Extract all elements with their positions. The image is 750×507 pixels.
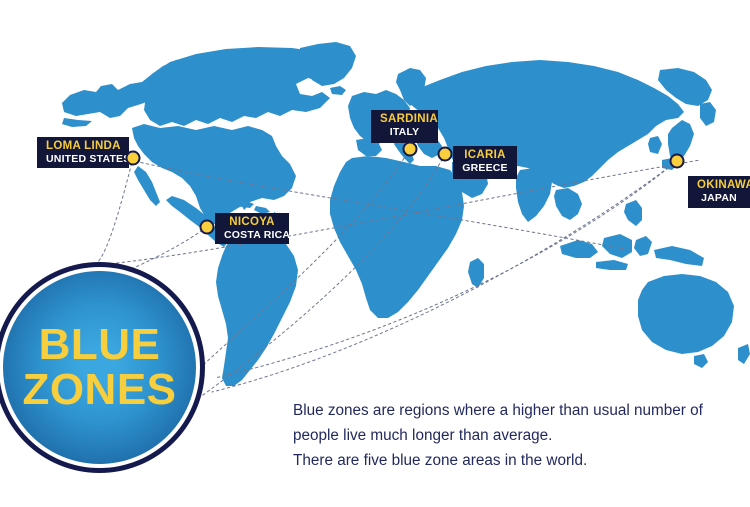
badge-line-2: ZONES [22, 368, 176, 413]
line-cross-2 [100, 160, 700, 265]
line-okinawa-south [215, 161, 677, 378]
marker-loma-linda[interactable] [126, 151, 141, 166]
blue-zones-infographic: LOMA LINDA UNITED STATES NICOYA COSTA RI… [0, 0, 750, 507]
line-loma-linda [98, 158, 133, 262]
description-line-1: Blue zones are regions where a higher th… [293, 398, 713, 423]
label-primary: SARDINIA [380, 114, 429, 126]
label-secondary: JAPAN [697, 193, 741, 204]
label-sardinia[interactable]: SARDINIA ITALY [371, 110, 438, 143]
description-line-3: There are five blue zone areas in the wo… [293, 448, 713, 473]
line-okinawa-long [212, 161, 677, 392]
label-nicoya[interactable]: NICOYA COSTA RICA [215, 213, 289, 244]
blue-zones-badge: BLUE ZONES [0, 262, 205, 473]
line-sardinia [185, 149, 410, 382]
label-secondary: COSTA RICA [224, 230, 280, 241]
label-primary: ICARIA [462, 150, 508, 162]
badge-line-1: BLUE [39, 323, 161, 368]
label-primary: OKINAWA [697, 180, 741, 192]
label-primary: NICOYA [224, 217, 280, 229]
label-primary: LOMA LINDA [46, 141, 120, 153]
marker-icaria[interactable] [438, 147, 453, 162]
label-secondary: ITALY [380, 127, 429, 138]
label-secondary: GREECE [462, 163, 508, 174]
description-text: Blue zones are regions where a higher th… [293, 398, 713, 473]
label-loma-linda[interactable]: LOMA LINDA UNITED STATES [37, 137, 129, 168]
label-icaria[interactable]: ICARIA GREECE [453, 146, 517, 179]
marker-okinawa[interactable] [670, 154, 685, 169]
badge-face: BLUE ZONES [3, 271, 196, 464]
label-okinawa[interactable]: OKINAWA JAPAN [688, 176, 750, 208]
marker-nicoya[interactable] [200, 220, 215, 235]
marker-sardinia[interactable] [403, 142, 418, 157]
line-icaria [196, 154, 445, 400]
description-line-2: people live much longer than average. [293, 423, 713, 448]
label-secondary: UNITED STATES [46, 154, 120, 165]
line-cross-1 [130, 160, 630, 250]
